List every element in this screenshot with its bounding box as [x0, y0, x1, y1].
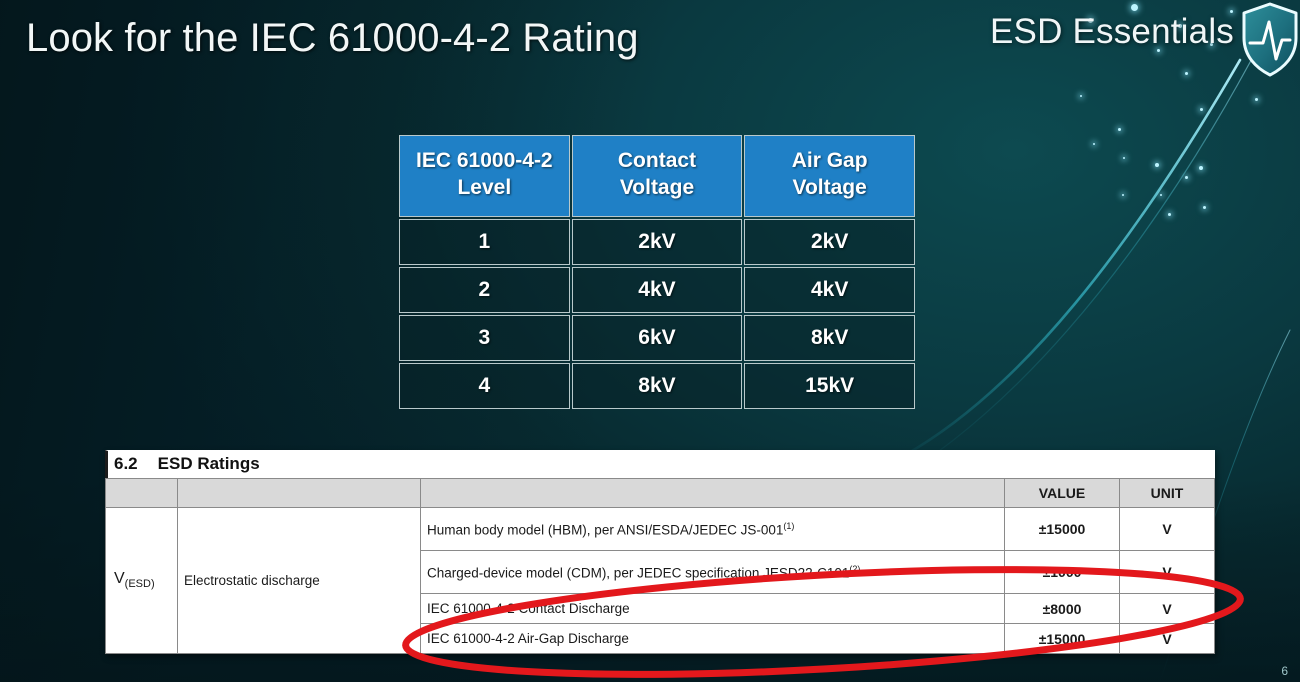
- iec-header-contact-line1: Contact: [577, 148, 738, 175]
- page-number: 6: [1281, 664, 1288, 678]
- slide-canvas: Look for the IEC 61000-4-2 Rating ESD Es…: [0, 0, 1300, 682]
- page-title: Look for the IEC 61000-4-2 Rating: [26, 16, 639, 61]
- iec-header-contact-line2: Voltage: [577, 175, 738, 202]
- esd-header-symbol: [106, 479, 178, 508]
- esd-unit-cdm: V: [1120, 551, 1215, 594]
- iec-header-airgap-line2: Voltage: [749, 175, 910, 202]
- iec-table-header-row: IEC 61000-4-2 Level Contact Voltage Air …: [399, 135, 915, 217]
- symbol-sub: (ESD): [125, 579, 155, 591]
- iec-header-level-line1: IEC 61000-4-2: [404, 148, 565, 175]
- brand-label: ESD Essentials: [990, 12, 1234, 52]
- esd-description-text: Human body model (HBM), per ANSI/ESDA/JE…: [427, 522, 783, 537]
- iec-cell-airgap: 15kV: [744, 363, 915, 409]
- datasheet-excerpt: 6.2 ESD Ratings VALUE UNIT V(ESD) Electr: [105, 450, 1215, 654]
- iec-cell-airgap: 8kV: [744, 315, 915, 361]
- table-row: 1 2kV 2kV: [399, 219, 915, 265]
- esd-table-header-row: VALUE UNIT: [106, 479, 1215, 508]
- iec-cell-level: 1: [399, 219, 570, 265]
- esd-description-contact: IEC 61000-4-2 Contact Discharge: [421, 594, 1005, 624]
- esd-symbol-cell: V(ESD): [106, 508, 178, 654]
- iec-cell-contact: 8kV: [572, 363, 743, 409]
- iec-cell-airgap: 4kV: [744, 267, 915, 313]
- esd-value-cdm: ±1000: [1005, 551, 1120, 594]
- esd-header-description: [421, 479, 1005, 508]
- esd-header-unit: UNIT: [1120, 479, 1215, 508]
- esd-unit-hbm: V: [1120, 508, 1215, 551]
- iec-cell-contact: 2kV: [572, 219, 743, 265]
- iec-header-contact-voltage: Contact Voltage: [572, 135, 743, 217]
- iec-cell-contact: 4kV: [572, 267, 743, 313]
- iec-rating-table: IEC 61000-4-2 Level Contact Voltage Air …: [397, 133, 917, 411]
- esd-value-contact: ±8000: [1005, 594, 1120, 624]
- footnote-marker: (2): [849, 564, 860, 574]
- esd-unit-airgap: V: [1120, 624, 1215, 654]
- esd-description-text: Charged-device model (CDM), per JEDEC sp…: [427, 565, 849, 580]
- esd-description-airgap: IEC 61000-4-2 Air-Gap Discharge: [421, 624, 1005, 654]
- section-number: 6.2: [114, 454, 138, 474]
- esd-header-parameter: [178, 479, 421, 508]
- iec-cell-airgap: 2kV: [744, 219, 915, 265]
- iec-cell-level: 2: [399, 267, 570, 313]
- esd-unit-contact: V: [1120, 594, 1215, 624]
- iec-header-airgap-line1: Air Gap: [749, 148, 910, 175]
- iec-cell-level: 3: [399, 315, 570, 361]
- iec-cell-contact: 6kV: [572, 315, 743, 361]
- footnote-marker: (1): [783, 521, 794, 531]
- shield-pulse-icon: [1240, 2, 1300, 78]
- iec-cell-level: 4: [399, 363, 570, 409]
- esd-description-hbm: Human body model (HBM), per ANSI/ESDA/JE…: [421, 508, 1005, 551]
- esd-parameter-cell: Electrostatic discharge: [178, 508, 421, 654]
- table-row: 2 4kV 4kV: [399, 267, 915, 313]
- symbol-main: V: [114, 570, 125, 587]
- section-title: ESD Ratings: [158, 454, 260, 474]
- table-row: V(ESD) Electrostatic discharge Human bod…: [106, 508, 1215, 551]
- table-row: 3 6kV 8kV: [399, 315, 915, 361]
- esd-ratings-table: VALUE UNIT V(ESD) Electrostatic discharg…: [105, 478, 1215, 654]
- table-row: 4 8kV 15kV: [399, 363, 915, 409]
- iec-header-air-gap-voltage: Air Gap Voltage: [744, 135, 915, 217]
- esd-description-cdm: Charged-device model (CDM), per JEDEC sp…: [421, 551, 1005, 594]
- datasheet-section-heading: 6.2 ESD Ratings: [105, 450, 1215, 478]
- esd-value-hbm: ±15000: [1005, 508, 1120, 551]
- esd-header-value: VALUE: [1005, 479, 1120, 508]
- esd-value-airgap: ±15000: [1005, 624, 1120, 654]
- iec-header-level-line2: Level: [404, 175, 565, 202]
- iec-header-level: IEC 61000-4-2 Level: [399, 135, 570, 217]
